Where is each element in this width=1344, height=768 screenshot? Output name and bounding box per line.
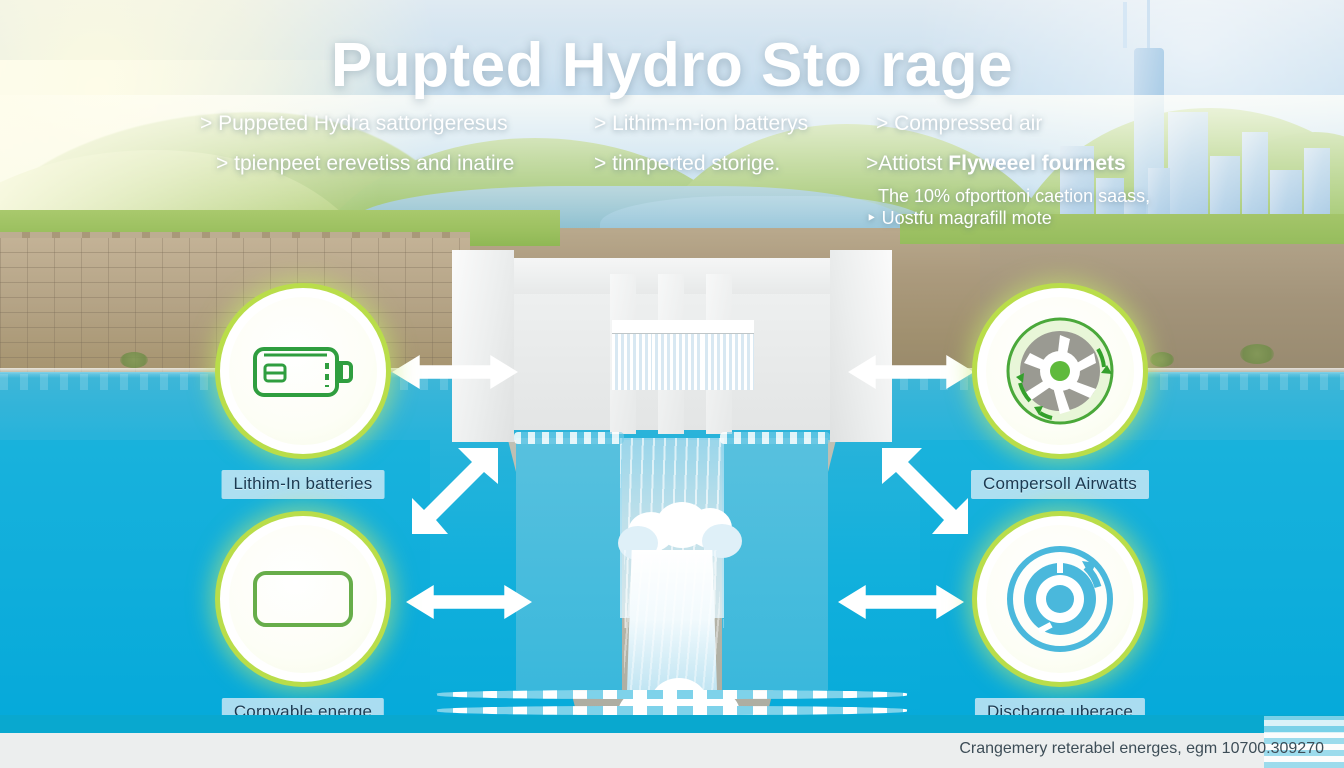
bullet-row1-item3: > Compressed air — [876, 112, 1042, 136]
infographic-canvas: Lithim-In batteries — [0, 0, 1344, 768]
bullet-text: Uostfu magrafill mote — [882, 208, 1052, 228]
node-inner — [986, 525, 1134, 673]
rounded-rect-icon — [251, 569, 355, 629]
bullet-right-flywheel: >Attiotst Flyweeel fournets — [866, 152, 1126, 176]
reservoir-water-right — [722, 438, 828, 690]
node-inner — [229, 525, 377, 673]
footer-caption: Crangemery reterabel energes, egm 10700.… — [959, 740, 1324, 758]
node-discharge[interactable]: Discharge uberace — [977, 516, 1143, 682]
node-label-lithium-batteries: Lithim-In batteries — [222, 470, 385, 499]
bullet-marker: ‣ — [866, 208, 877, 228]
bullet-right-line2: The 10% ofporttoni caetion saass, — [878, 186, 1150, 207]
node-label-compressed-air: Compersoll Airwatts — [971, 470, 1149, 499]
bottom-wave — [437, 706, 907, 715]
bullet-marker: > — [200, 112, 212, 135]
bullet-marker: > — [866, 152, 878, 175]
bullet-bold-text: Flyweeel fournets — [948, 152, 1125, 175]
shrub — [120, 352, 148, 368]
node-inner — [229, 297, 377, 445]
turbine-icon — [998, 309, 1122, 433]
bullet-marker: > — [876, 112, 888, 135]
battery-icon — [251, 339, 355, 403]
bullet-lead: Attiotst — [878, 152, 948, 175]
shrub — [1240, 344, 1274, 364]
bullet-text: The 10% ofporttoni caetion saass, — [878, 186, 1150, 206]
bullet-row2-item1: > tpienpeet erevetiss and inatire — [216, 152, 514, 176]
node-compressed-air[interactable]: Compersoll Airwatts — [977, 288, 1143, 454]
bullet-text: Compressed air — [894, 112, 1042, 135]
dam-structure — [452, 250, 892, 728]
footer-accent-band — [0, 715, 1344, 733]
shrub — [1150, 352, 1174, 367]
flywheel-icon — [998, 537, 1122, 661]
bullet-marker: > — [216, 152, 228, 175]
double-arrow-diagonal-icon — [402, 440, 518, 552]
page-title: Pupted Hydro Sto rage — [0, 30, 1344, 101]
double-arrow-diagonal-icon — [862, 440, 978, 552]
dam-pier-left — [452, 250, 514, 442]
arrow-right-diagonal — [862, 440, 978, 552]
bullet-row1-item1: > Puppeted Hydra sattorigeresus — [200, 112, 508, 136]
bullet-text: Puppeted Hydra sattorigeresus — [218, 112, 508, 135]
reservoir-water-left — [516, 438, 622, 690]
node-capable-energy[interactable]: Corpvable energe — [220, 516, 386, 682]
bullet-marker: > — [594, 152, 606, 175]
bullet-row1-item2: > Lithim-m-ion batterys — [594, 112, 808, 136]
bullet-text: tinnperted storige. — [612, 152, 780, 175]
bullet-row2-item2: > tinnperted storige. — [594, 152, 780, 176]
bullet-text: Lithim-m-ion batterys — [612, 112, 808, 135]
bottom-wave — [437, 690, 907, 699]
bullet-marker: > — [594, 112, 606, 135]
bullet-right-line3: ‣ Uostfu magrafill mote — [866, 208, 1052, 229]
spillway-gate — [702, 320, 754, 390]
arrow-left-diagonal — [402, 440, 518, 552]
reservoir-wave-right — [720, 432, 830, 444]
node-lithium-batteries[interactable]: Lithim-In batteries — [220, 288, 386, 454]
dam-pier-right — [830, 250, 892, 442]
node-inner — [986, 297, 1134, 445]
bullet-text: tpienpeet erevetiss and inatire — [234, 152, 514, 175]
reservoir-wave-left — [514, 432, 624, 444]
